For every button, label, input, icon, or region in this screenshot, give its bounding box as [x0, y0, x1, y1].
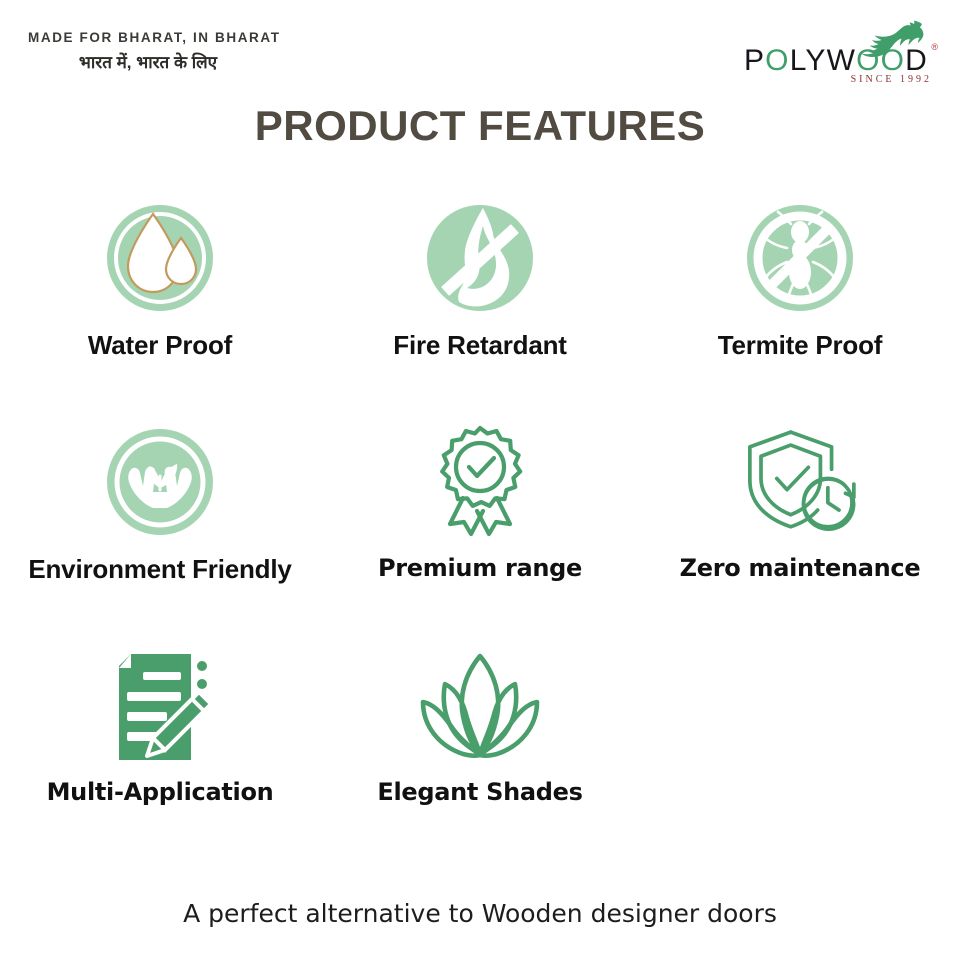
logo-text-oo: OO [856, 44, 905, 77]
feature-termite-proof[interactable]: Termite Proof [640, 196, 960, 420]
product-features-page: MADE FOR BHARAT, IN BHARAT भारत में, भार… [0, 0, 960, 960]
hands-plant-icon [95, 420, 225, 550]
feature-label: Water Proof [88, 330, 232, 361]
footer-caption: A perfect alternative to Wooden designer… [0, 899, 960, 928]
lotus-flower-icon [415, 644, 545, 774]
document-pencil-icon [95, 644, 225, 774]
award-rosette-icon [415, 420, 545, 550]
water-drop-icon [95, 196, 225, 326]
logo-text-p: P [744, 44, 765, 77]
feature-premium-range[interactable]: Premium range [320, 420, 640, 644]
logo-text-o: O [765, 44, 790, 77]
features-row: Multi-Application Elegant Shades [0, 644, 960, 868]
feature-label: Multi-Application [47, 778, 274, 806]
feature-multi-application[interactable]: Multi-Application [0, 644, 320, 868]
logo-wordmark: POLYWOOD [736, 46, 936, 76]
feature-label: Elegant Shades [377, 778, 582, 806]
registered-trademark-icon: ® [931, 42, 938, 52]
page-title: PRODUCT FEATURES [0, 102, 960, 150]
feature-fire-retardant[interactable]: Fire Retardant [320, 196, 640, 420]
tagline-english: MADE FOR BHARAT, IN BHARAT [28, 30, 268, 46]
tagline-hindi: भारत में, भारत के लिए [28, 53, 268, 73]
polywood-logo: POLYWOOD ® SINCE 1992 [736, 24, 936, 86]
feature-label: Termite Proof [718, 330, 883, 361]
feature-elegant-shades[interactable]: Elegant Shades [320, 644, 640, 868]
logo-text-d: D [905, 44, 928, 77]
shield-clock-icon [735, 420, 865, 550]
logo-since-text: SINCE 1992 [851, 74, 932, 85]
feature-zero-maintenance[interactable]: Zero maintenance [640, 420, 960, 644]
features-row: Environment Friendly Premium range [0, 420, 960, 644]
logo-text-lyw: LYW [790, 44, 856, 77]
feature-water-proof[interactable]: Water Proof [0, 196, 320, 420]
features-grid: Water Proof Fire Retardant [0, 196, 960, 868]
features-row: Water Proof Fire Retardant [0, 196, 960, 420]
feature-label: Premium range [378, 554, 582, 582]
feature-label: Environment Friendly [28, 554, 291, 585]
feature-label: Zero maintenance [680, 554, 921, 582]
page-header: MADE FOR BHARAT, IN BHARAT भारत में, भार… [0, 0, 960, 100]
feature-label: Fire Retardant [393, 330, 566, 361]
feature-environment-friendly[interactable]: Environment Friendly [0, 420, 320, 644]
no-termite-icon [735, 196, 865, 326]
no-fire-icon [415, 196, 545, 326]
brand-tagline: MADE FOR BHARAT, IN BHARAT भारत में, भार… [28, 30, 268, 74]
